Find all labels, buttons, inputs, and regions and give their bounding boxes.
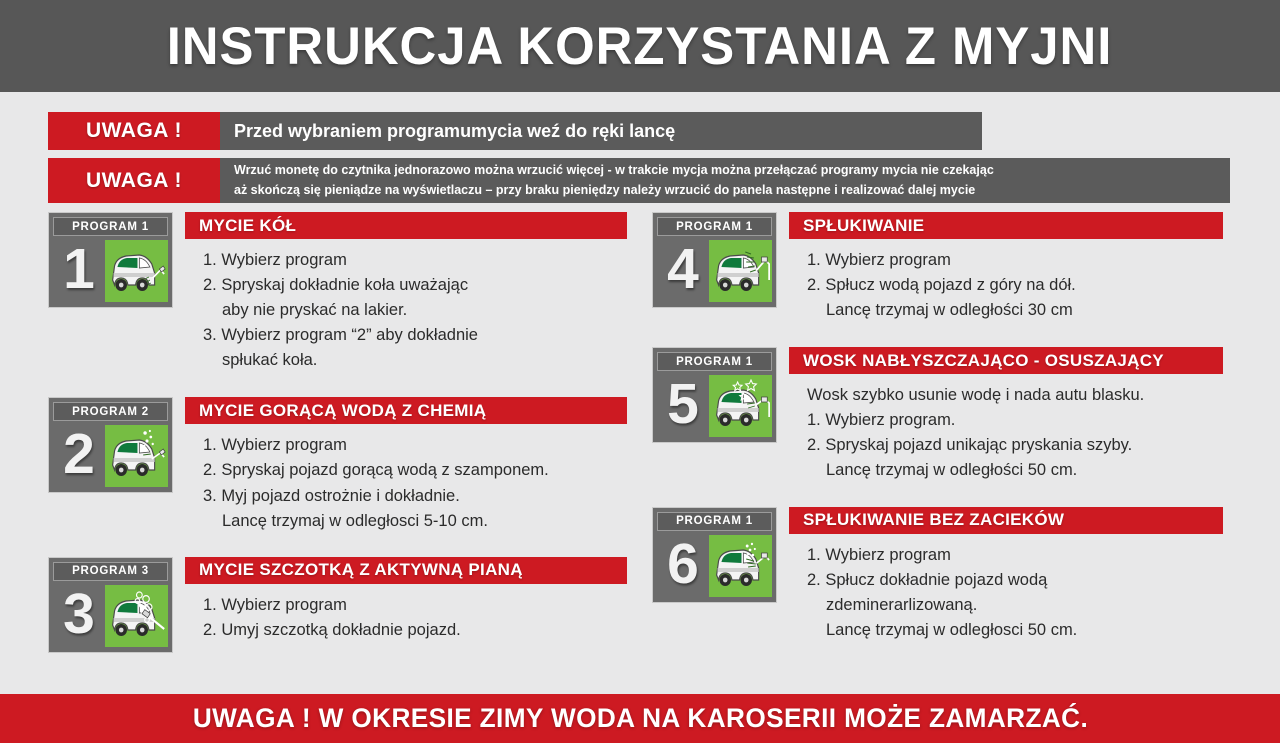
program-icon-box: PROGRAM 3 3 bbox=[48, 557, 173, 653]
program-steps: 1. Wybierz program 2. Spryskaj pojazd go… bbox=[185, 433, 648, 533]
program-number: 5 bbox=[657, 375, 709, 437]
program-badge: PROGRAM 1 bbox=[657, 512, 772, 531]
program-badge: PROGRAM 1 bbox=[53, 217, 168, 236]
program-step: 1. Wybierz program bbox=[807, 543, 1252, 568]
program-content: WOSK NABŁYSZCZAJĄCO - OSUSZAJĄCY Wosk sz… bbox=[789, 347, 1252, 483]
program-card: PROGRAM 3 3 bbox=[48, 557, 648, 653]
program-step: 1. Wybierz program bbox=[203, 248, 648, 273]
program-badge-label: PROGRAM 2 bbox=[72, 406, 149, 418]
program-title: SPŁUKIWANIE bbox=[803, 216, 924, 236]
page-header: INSTRUKCJA KORZYSTANIA Z MYJNI bbox=[0, 0, 1280, 92]
program-title: WOSK NABŁYSZCZAJĄCO - OSUSZAJĄCY bbox=[803, 351, 1164, 371]
car-wheel-lance-icon bbox=[105, 240, 168, 302]
program-content: SPŁUKIWANIE 1. Wybierz program 2. Spłucz… bbox=[789, 212, 1252, 323]
program-badge: PROGRAM 3 bbox=[53, 562, 168, 581]
program-step: Lancę trzymaj w odległości 30 cm bbox=[807, 298, 1252, 323]
program-title-bar: SPŁUKIWANIE bbox=[789, 212, 1223, 239]
footer-warning-text: UWAGA ! W OKRESIE ZIMY WODA NA KAROSERII… bbox=[192, 703, 1087, 734]
warning-row-2: UWAGA ! Wrzuć monetę do czytnika jednora… bbox=[48, 158, 1230, 203]
program-icon-box: PROGRAM 1 5 bbox=[652, 347, 777, 443]
car-wax-shine-icon bbox=[709, 375, 772, 437]
program-badge: PROGRAM 1 bbox=[657, 352, 772, 371]
program-badge-label: PROGRAM 3 bbox=[72, 565, 149, 577]
program-card: PROGRAM 2 2 bbox=[48, 397, 648, 533]
program-grid: PROGRAM 1 1 bbox=[0, 212, 1280, 682]
car-rinse-lance-icon bbox=[709, 240, 772, 302]
program-column-right: PROGRAM 1 4 bbox=[652, 212, 1252, 643]
warning-text: Przed wybraniem programumycia weź do ręk… bbox=[220, 112, 982, 150]
program-badge: PROGRAM 2 bbox=[53, 402, 168, 421]
program-title-bar: WOSK NABŁYSZCZAJĄCO - OSUSZAJĄCY bbox=[789, 347, 1223, 374]
program-title: MYCIE GORĄCĄ WODĄ Z CHEMIĄ bbox=[199, 401, 486, 421]
program-content: MYCIE KÓŁ 1. Wybierz program 2. Spryskaj… bbox=[185, 212, 648, 373]
program-title-bar: MYCIE KÓŁ bbox=[185, 212, 627, 239]
program-number: 1 bbox=[53, 240, 105, 302]
program-step: 1. Wybierz program. bbox=[807, 408, 1252, 433]
warning-row-1: UWAGA ! Przed wybraniem programumycia we… bbox=[48, 112, 982, 150]
program-content: SPŁUKIWANIE BEZ ZACIEKÓW 1. Wybierz prog… bbox=[789, 507, 1252, 643]
warning-tag: UWAGA ! bbox=[48, 112, 220, 150]
warning-line: aż skończą się pieniądze na wyświetlaczu… bbox=[234, 181, 1230, 200]
program-title: MYCIE SZCZOTKĄ Z AKTYWNĄ PIANĄ bbox=[199, 560, 523, 580]
program-card: PROGRAM 1 6 bbox=[652, 507, 1252, 643]
program-steps: 1. Wybierz program 2. Spłucz dokładnie p… bbox=[789, 543, 1252, 643]
program-icon-body: 5 bbox=[657, 375, 772, 437]
car-demineralized-rinse-icon bbox=[709, 535, 772, 597]
program-steps: 1. Wybierz program 2. Spryskaj dokładnie… bbox=[185, 248, 648, 373]
program-title-bar: SPŁUKIWANIE BEZ ZACIEKÓW bbox=[789, 507, 1223, 534]
program-title: SPŁUKIWANIE BEZ ZACIEKÓW bbox=[803, 510, 1064, 530]
program-step: 2. Spryskaj pojazd gorącą wodą z szampon… bbox=[203, 458, 648, 483]
program-column-left: PROGRAM 1 1 bbox=[48, 212, 648, 653]
program-step: Lancę trzymaj w odległosci 50 cm. bbox=[807, 618, 1252, 643]
program-steps: Wosk szybko usunie wodę i nada autu blas… bbox=[789, 383, 1252, 483]
program-step: 2. Spryskaj dokładnie koła uważając bbox=[203, 273, 648, 298]
car-foam-lance-icon bbox=[105, 425, 168, 487]
program-step: 2. Umyj szczotką dokładnie pojazd. bbox=[203, 618, 648, 643]
warning-line: Wrzuć monetę do czytnika jednorazowo moż… bbox=[234, 161, 1230, 180]
program-step: 1. Wybierz program bbox=[203, 433, 648, 458]
program-content: MYCIE SZCZOTKĄ Z AKTYWNĄ PIANĄ 1. Wybier… bbox=[185, 557, 648, 643]
program-step: 3. Wybierz program “2” aby dokładnie bbox=[203, 323, 648, 348]
car-brush-foam-icon bbox=[105, 585, 168, 647]
program-icon-body: 3 bbox=[53, 585, 168, 647]
program-step: Lancę trzymaj w odległości 50 cm. bbox=[807, 458, 1252, 483]
program-step: 2. Spryskaj pojazd unikając pryskania sz… bbox=[807, 433, 1252, 458]
program-steps: 1. Wybierz program 2. Umyj szczotką dokł… bbox=[185, 593, 648, 643]
program-badge-label: PROGRAM 1 bbox=[676, 356, 753, 368]
program-icon-body: 1 bbox=[53, 240, 168, 302]
program-badge: PROGRAM 1 bbox=[657, 217, 772, 236]
warning-tag: UWAGA ! bbox=[48, 158, 220, 203]
program-icon-box: PROGRAM 1 6 bbox=[652, 507, 777, 603]
program-title: MYCIE KÓŁ bbox=[199, 216, 296, 236]
program-icon-body: 6 bbox=[657, 535, 772, 597]
program-steps: 1. Wybierz program 2. Spłucz wodą pojazd… bbox=[789, 248, 1252, 323]
program-title-bar: MYCIE GORĄCĄ WODĄ Z CHEMIĄ bbox=[185, 397, 627, 424]
program-step: Lancę trzymaj w odległosci 5-10 cm. bbox=[203, 509, 648, 534]
program-badge-label: PROGRAM 1 bbox=[72, 221, 149, 233]
program-number: 2 bbox=[53, 425, 105, 487]
footer-warning-banner: UWAGA ! W OKRESIE ZIMY WODA NA KAROSERII… bbox=[0, 691, 1280, 743]
program-title-bar: MYCIE SZCZOTKĄ Z AKTYWNĄ PIANĄ bbox=[185, 557, 627, 584]
program-card: PROGRAM 1 5 bbox=[652, 347, 1252, 483]
warning-text: Wrzuć monetę do czytnika jednorazowo moż… bbox=[220, 158, 1230, 203]
program-step: spłukać koła. bbox=[203, 348, 648, 373]
program-card: PROGRAM 1 4 bbox=[652, 212, 1252, 323]
program-step: aby nie pryskać na lakier. bbox=[203, 298, 648, 323]
program-card: PROGRAM 1 1 bbox=[48, 212, 648, 373]
program-number: 4 bbox=[657, 240, 709, 302]
program-step: 1. Wybierz program bbox=[807, 248, 1252, 273]
program-step: 3. Myj pojazd ostrożnie i dokładnie. bbox=[203, 484, 648, 509]
program-step: 2. Spłucz dokładnie pojazd wodą bbox=[807, 568, 1252, 593]
program-icon-box: PROGRAM 2 2 bbox=[48, 397, 173, 493]
program-step: 2. Spłucz wodą pojazd z góry na dół. bbox=[807, 273, 1252, 298]
program-content: MYCIE GORĄCĄ WODĄ Z CHEMIĄ 1. Wybierz pr… bbox=[185, 397, 648, 533]
program-step: Wosk szybko usunie wodę i nada autu blas… bbox=[807, 383, 1252, 408]
program-badge-label: PROGRAM 1 bbox=[676, 221, 753, 233]
program-icon-box: PROGRAM 1 1 bbox=[48, 212, 173, 308]
program-step: zdeminerarlizowaną. bbox=[807, 593, 1252, 618]
program-icon-body: 2 bbox=[53, 425, 168, 487]
program-icon-body: 4 bbox=[657, 240, 772, 302]
program-number: 3 bbox=[53, 585, 105, 647]
program-badge-label: PROGRAM 1 bbox=[676, 515, 753, 527]
page-title: INSTRUKCJA KORZYSTANIA Z MYJNI bbox=[167, 16, 1113, 77]
program-step: 1. Wybierz program bbox=[203, 593, 648, 618]
program-icon-box: PROGRAM 1 4 bbox=[652, 212, 777, 308]
warning-line: Przed wybraniem programumycia weź do ręk… bbox=[234, 121, 982, 142]
program-number: 6 bbox=[657, 535, 709, 597]
